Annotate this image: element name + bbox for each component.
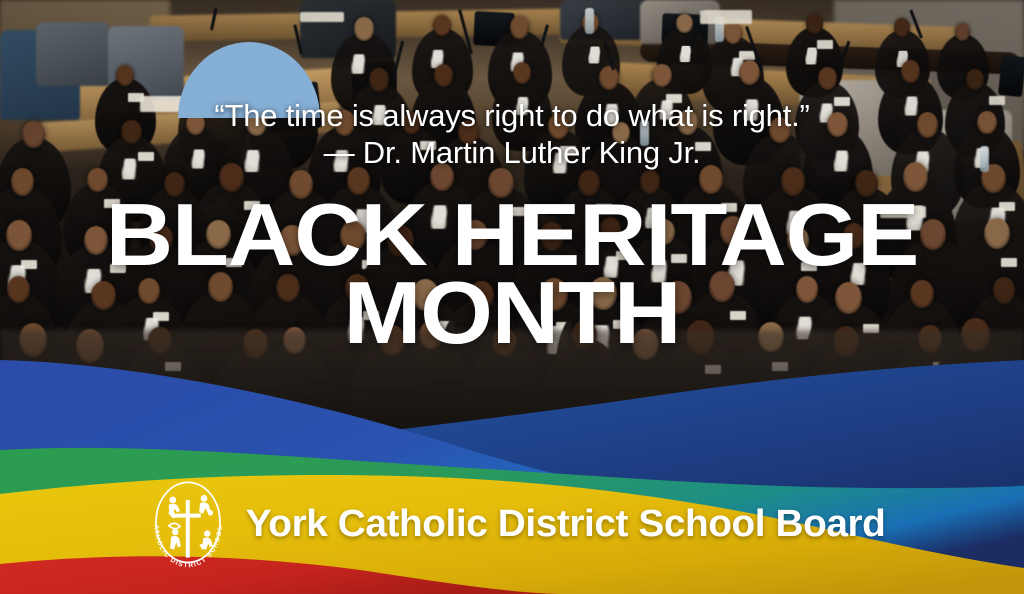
- page-title: BLACK HERITAGE MONTH: [0, 196, 1024, 352]
- board-name-label: York Catholic District School Board: [246, 504, 886, 544]
- title-line-two: MONTH: [0, 274, 1024, 352]
- footer-branding: YORK CATHOLIC DISTRICT SCHOOL BOARD York…: [140, 476, 879, 572]
- svg-text:YORK CATHOLIC DISTRICT SCHOOL: YORK CATHOLIC DISTRICT SCHOOL BOARD: [140, 476, 224, 569]
- quote-block: “The time is always right to do what is …: [0, 98, 1024, 172]
- black-heritage-month-poster: “The time is always right to do what is …: [0, 0, 1024, 594]
- quote-attribution: — Dr. Martin Luther King Jr.: [0, 134, 1024, 172]
- ycdsb-crest-icon: YORK CATHOLIC DISTRICT SCHOOL BOARD: [140, 476, 236, 572]
- quote-text: “The time is always right to do what is …: [0, 98, 1024, 134]
- crest-ring-text: YORK CATHOLIC DISTRICT SCHOOL BOARD: [140, 476, 224, 569]
